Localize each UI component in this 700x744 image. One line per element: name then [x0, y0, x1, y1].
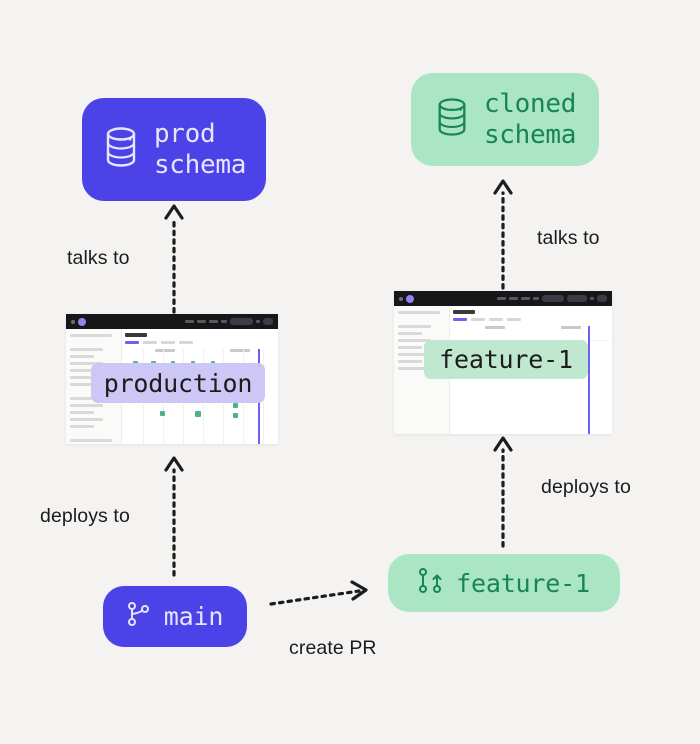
prod-schema-label: prod schema: [154, 119, 246, 179]
panel-title-placeholder: [125, 333, 147, 337]
diagram-canvas: prod schema cloned schema: [0, 0, 700, 744]
tag-feature-1: feature-1: [424, 340, 588, 379]
edge-label-deploys-to-right: deploys to: [541, 476, 631, 499]
node-prod-schema[interactable]: prod schema: [82, 98, 266, 201]
arrow-production-to-prod-schema: [166, 206, 182, 312]
chart-header-chip: [230, 349, 250, 352]
git-pull-request-icon: [418, 567, 443, 599]
panel-tab[interactable]: [489, 318, 503, 321]
app-logo: [406, 295, 414, 303]
app-topbar: [66, 314, 278, 329]
topbar-nav-item[interactable]: [521, 297, 530, 300]
sidebar-row: [70, 348, 103, 351]
topbar-nav-item[interactable]: [209, 320, 218, 323]
git-branch-icon: [127, 601, 151, 632]
sidebar-row: [70, 334, 112, 337]
menu-icon: [399, 297, 403, 301]
topbar-nav-item[interactable]: [497, 297, 506, 300]
topbar-branch-pill[interactable]: [567, 295, 587, 302]
sidebar-row: [70, 418, 103, 421]
arrow-create-pr: [271, 582, 366, 604]
chart-marker: [233, 413, 238, 418]
app-logo: [78, 318, 86, 326]
edge-label-deploys-to-left: deploys to: [40, 505, 130, 528]
cloned-schema-label: cloned schema: [484, 89, 576, 149]
topbar-nav-item[interactable]: [509, 297, 518, 300]
sidebar-row: [398, 360, 422, 363]
node-feature-branch[interactable]: feature-1: [388, 554, 620, 612]
chart-marker: [195, 411, 201, 417]
sidebar-row: [70, 425, 94, 428]
node-cloned-schema[interactable]: cloned schema: [411, 73, 599, 166]
topbar-nav-item[interactable]: [185, 320, 194, 323]
panel-tabs[interactable]: [125, 341, 275, 344]
panel-tabs[interactable]: [453, 318, 609, 321]
arrow-feature-to-cloned-schema: [495, 181, 511, 288]
panel-tab[interactable]: [453, 318, 467, 321]
app-topbar: [394, 291, 612, 306]
sidebar-row: [70, 439, 112, 442]
panel-tab[interactable]: [161, 341, 175, 344]
topbar-account-pill[interactable]: [230, 318, 253, 325]
panel-tab[interactable]: [125, 341, 139, 344]
sidebar-row: [398, 325, 431, 328]
topbar-nav-item[interactable]: [590, 297, 594, 300]
sidebar-gap: [70, 341, 117, 348]
topbar-avatar[interactable]: [597, 295, 607, 302]
sidebar-row: [70, 404, 103, 407]
topbar-nav-item[interactable]: [256, 320, 260, 323]
panel-tab[interactable]: [179, 341, 193, 344]
node-main-branch[interactable]: main: [103, 586, 247, 647]
sidebar-row: [398, 311, 440, 314]
feature-branch-label: feature-1: [456, 569, 590, 598]
panel-title-placeholder: [453, 310, 475, 314]
database-icon: [434, 96, 470, 143]
topbar-nav-item[interactable]: [221, 320, 227, 323]
chart-header-chip: [561, 326, 581, 329]
sidebar-gap: [398, 318, 445, 325]
sidebar-row: [398, 332, 422, 335]
menu-icon: [71, 320, 75, 324]
arrow-main-deploys-to-production: [166, 458, 182, 575]
topbar-avatar[interactable]: [263, 318, 273, 325]
chart-header-chip: [485, 326, 505, 329]
main-branch-label: main: [164, 602, 223, 631]
panel-tab[interactable]: [471, 318, 485, 321]
sidebar-row: [70, 411, 94, 414]
sidebar-row: [398, 346, 422, 349]
panel-tab[interactable]: [507, 318, 521, 321]
tag-production: production: [91, 363, 265, 403]
edge-label-talks-to-left: talks to: [67, 247, 130, 270]
sidebar-row: [70, 355, 94, 358]
topbar-nav-item[interactable]: [533, 297, 539, 300]
edge-label-talks-to-right: talks to: [537, 227, 600, 250]
panel-tab[interactable]: [143, 341, 157, 344]
database-icon: [102, 125, 140, 174]
chart-marker: [233, 403, 238, 408]
chart-marker: [160, 411, 165, 416]
topbar-nav-item[interactable]: [197, 320, 206, 323]
arrow-feature-deploys-to-feature-app: [495, 438, 511, 546]
topbar-account-pill[interactable]: [542, 295, 564, 302]
chart-header-chip: [155, 349, 175, 352]
sidebar-gap: [70, 432, 117, 439]
edge-label-create-pr: create PR: [289, 637, 377, 660]
chart-cursor-line[interactable]: [588, 326, 590, 434]
